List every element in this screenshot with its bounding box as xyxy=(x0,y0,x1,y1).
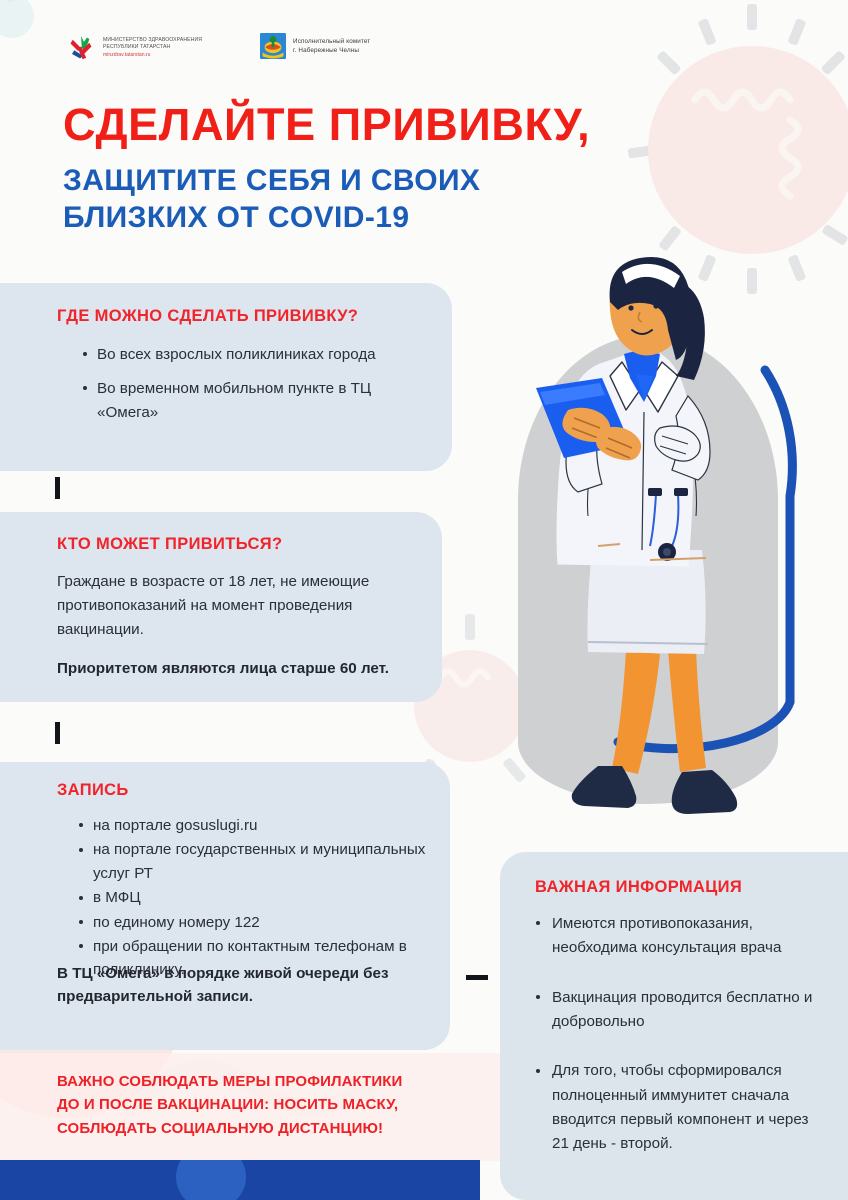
logo-ministry-of-health[interactable]: МИНИСТЕРСТВО ЗДРАВООХРАНЕНИЯ РЕСПУБЛИКИ … xyxy=(66,33,202,63)
headline-secondary-line-2: БЛИЗКИХ ОТ COVID-19 xyxy=(63,200,723,237)
logo-line-2: РЕСПУБЛИКИ ТАТАРСТАН xyxy=(103,44,202,51)
list-item: Имеются противопоказания, необходима кон… xyxy=(532,912,827,961)
headline-primary: СДЕЛАЙТЕ ПРИВИВКУ, xyxy=(63,102,723,147)
card-where-title: ГДЕ МОЖНО СДЕЛАТЬ ПРИВИВКУ? xyxy=(57,307,358,326)
card-important-title: ВАЖНАЯ ИНФОРМАЦИЯ xyxy=(535,878,742,897)
header-logos: МИНИСТЕРСТВО ЗДРАВООХРАНЕНИЯ РЕСПУБЛИКИ … xyxy=(66,33,370,63)
warning-line-1: ВАЖНО СОБЛЮДАТЬ МЕРЫ ПРОФИЛАКТИКИ xyxy=(57,1070,477,1093)
divider-tick-1 xyxy=(55,477,60,499)
headline-secondary: ЗАЩИТИТЕ СЕБЯ И СВОИХ БЛИЗКИХ ОТ COVID-1… xyxy=(63,163,723,236)
virus-top-left-icon xyxy=(0,0,34,38)
card-signup-title: ЗАПИСЬ xyxy=(57,781,129,800)
logo-url[interactable]: minzdrav.tatarstan.ru xyxy=(103,52,202,59)
naberezhnye-chelny-coat-of-arms-icon xyxy=(260,33,286,59)
card-where-list: Во всех взрослых поликлиниках города Во … xyxy=(80,343,420,435)
warning-line-3: СОБЛЮДАТЬ СОЦИАЛЬНУЮ ДИСТАНЦИЮ! xyxy=(57,1117,477,1140)
card-who-title: КТО МОЖЕТ ПРИВИТЬСЯ? xyxy=(57,535,282,554)
card-signup-list: на портале gosuslugi.ru на портале госуд… xyxy=(76,814,456,983)
prevention-warning: ВАЖНО СОБЛЮДАТЬ МЕРЫ ПРОФИЛАКТИКИ ДО И П… xyxy=(57,1070,477,1140)
divider-dash xyxy=(466,975,488,980)
headline: СДЕЛАЙТЕ ПРИВИВКУ, ЗАЩИТИТЕ СЕБЯ И СВОИХ… xyxy=(63,102,723,236)
bottom-blue-bar xyxy=(0,1160,480,1200)
list-item: Во всех взрослых поликлиниках города xyxy=(80,343,420,368)
list-item: Для того, чтобы сформировался полноценны… xyxy=(532,1059,827,1156)
list-item[interactable]: на портале gosuslugi.ru xyxy=(76,814,456,837)
card-important-information: ВАЖНАЯ ИНФОРМАЦИЯ Имеются противопоказан… xyxy=(500,852,848,1200)
card-who-emphasis: Приоритетом являются лица старше 60 лет. xyxy=(57,658,437,681)
list-item: Вакцинация проводится бесплатно и добров… xyxy=(532,986,827,1035)
card-where-to-vaccinate: ГДЕ МОЖНО СДЕЛАТЬ ПРИВИВКУ? Во всех взро… xyxy=(0,283,452,471)
bottom-bar-ellipse xyxy=(176,1160,246,1200)
warning-line-2: ДО И ПОСЛЕ ВАКЦИНАЦИИ: НОСИТЬ МАСКУ, xyxy=(57,1093,477,1116)
headline-secondary-line-1: ЗАЩИТИТЕ СЕБЯ И СВОИХ xyxy=(63,163,723,200)
list-item: по единому номеру 122 xyxy=(76,911,456,934)
divider-tick-2 xyxy=(55,722,60,744)
list-item: в МФЦ xyxy=(76,886,456,909)
list-item: Во временном мобильном пункте в ТЦ «Омег… xyxy=(80,377,420,426)
logo-line-1: Исполнительный комитет xyxy=(293,37,370,46)
card-signup-emphasis: В ТЦ «Омега» в порядке живой очереди без… xyxy=(57,962,447,1008)
card-signup: ЗАПИСЬ на портале gosuslugi.ru на портал… xyxy=(0,762,450,1050)
doctor-illustration xyxy=(500,250,848,820)
card-who-body: Граждане в возрасте от 18 лет, не имеющи… xyxy=(57,570,427,642)
card-important-list: Имеются противопоказания, необходима кон… xyxy=(532,912,827,1182)
logo-executive-committee[interactable]: Исполнительный комитет г. Набережные Чел… xyxy=(260,33,370,59)
list-item: на портале государственных и муниципальн… xyxy=(76,838,456,885)
logo-line-1: МИНИСТЕРСТВО ЗДРАВООХРАНЕНИЯ xyxy=(103,37,202,44)
logo-line-2: г. Набережные Челны xyxy=(293,46,370,55)
tatarstan-ministry-emblem-icon xyxy=(66,33,96,63)
card-who-can-vaccinate: КТО МОЖЕТ ПРИВИТЬСЯ? Граждане в возрасте… xyxy=(0,512,442,702)
poster-canvas: МИНИСТЕРСТВО ЗДРАВООХРАНЕНИЯ РЕСПУБЛИКИ … xyxy=(0,0,848,1200)
